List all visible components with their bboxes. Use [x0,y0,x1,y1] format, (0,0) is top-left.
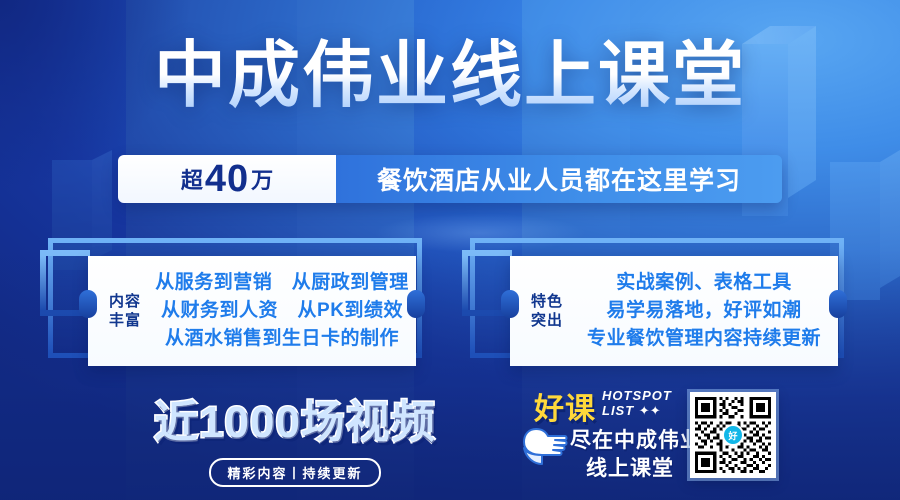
card-nub-left [501,290,519,318]
card-tag-label: 特色突出 [524,292,570,330]
subtitle-text: 餐饮酒店从业人员都在这里学习 [336,155,782,203]
card-body: 从服务到营销 从厨政到管理 从财务到人资 从PK到绩效 从酒水销售到生日卡的制作 [148,269,416,353]
card-line: 专业餐饮管理内容持续更新 [570,325,838,353]
sparkle-icon: ✦✦ [639,403,661,418]
banner-headline: 中成伟业线上课堂 [0,38,900,114]
subtitle-count: 超 40 万 [118,155,336,203]
card-line: 从服务到营销 从厨政到管理 [148,269,416,297]
subtitle-bar: 超 40 万 餐饮酒店从业人员都在这里学习 [118,155,782,203]
card-line: 实战案例、表格工具 [570,269,838,297]
video-count-text: 近1000场视频 [150,386,440,450]
card-panel: 内容丰富 从服务到营销 从厨政到管理 从财务到人资 从PK到绩效 从酒水销售到生… [88,256,416,366]
feature-card-highlights: 特色突出 实战案例、表格工具 易学易落地，好评如潮 专业餐饮管理内容持续更新 [462,238,844,366]
hot-course-line-2: 线上课堂 [586,452,674,482]
card-nub-left [79,290,97,318]
video-update-pill: 精彩内容丨持续更新 [209,458,380,487]
hot-course-english: HOTSPOT LIST ✦✦ [602,388,672,418]
card-body: 实战案例、表格工具 易学易落地，好评如潮 专业餐饮管理内容持续更新 [570,269,838,353]
hot-course-block: 好课 HOTSPOT LIST ✦✦ 尽在中成伟业 线上课堂 [524,384,684,480]
qr-code-icon: 好 [695,397,771,473]
pointing-hand-icon [522,420,568,468]
list-label: LIST [602,403,634,418]
qr-code-block[interactable]: 好 [690,392,776,478]
video-count-block: 近1000场视频 精彩内容丨持续更新 [150,386,440,487]
card-nub-right [829,290,847,318]
card-line: 从财务到人资 从PK到绩效 [148,297,416,325]
card-panel: 特色突出 实战案例、表格工具 易学易落地，好评如潮 专业餐饮管理内容持续更新 [510,256,838,366]
promo-banner: 中成伟业线上课堂 超 40 万 餐饮酒店从业人员都在这里学习 内容丰富 从服务到… [0,0,900,500]
card-line: 从酒水销售到生日卡的制作 [148,325,416,353]
count-suffix: 万 [251,163,273,195]
count-number: 40 [203,158,251,201]
card-tag-label: 内容丰富 [102,292,148,330]
hotspot-label: HOTSPOT [602,388,672,403]
card-line: 易学易落地，好评如潮 [570,297,838,325]
hot-course-line-1: 尽在中成伟业 [570,424,702,454]
feature-card-content: 内容丰富 从服务到营销 从厨政到管理 从财务到人资 从PK到绩效 从酒水销售到生… [40,238,422,366]
list-label-row: LIST ✦✦ [602,403,672,418]
count-prefix: 超 [181,163,203,195]
qr-center-logo: 好 [722,424,744,446]
card-nub-right [407,290,425,318]
